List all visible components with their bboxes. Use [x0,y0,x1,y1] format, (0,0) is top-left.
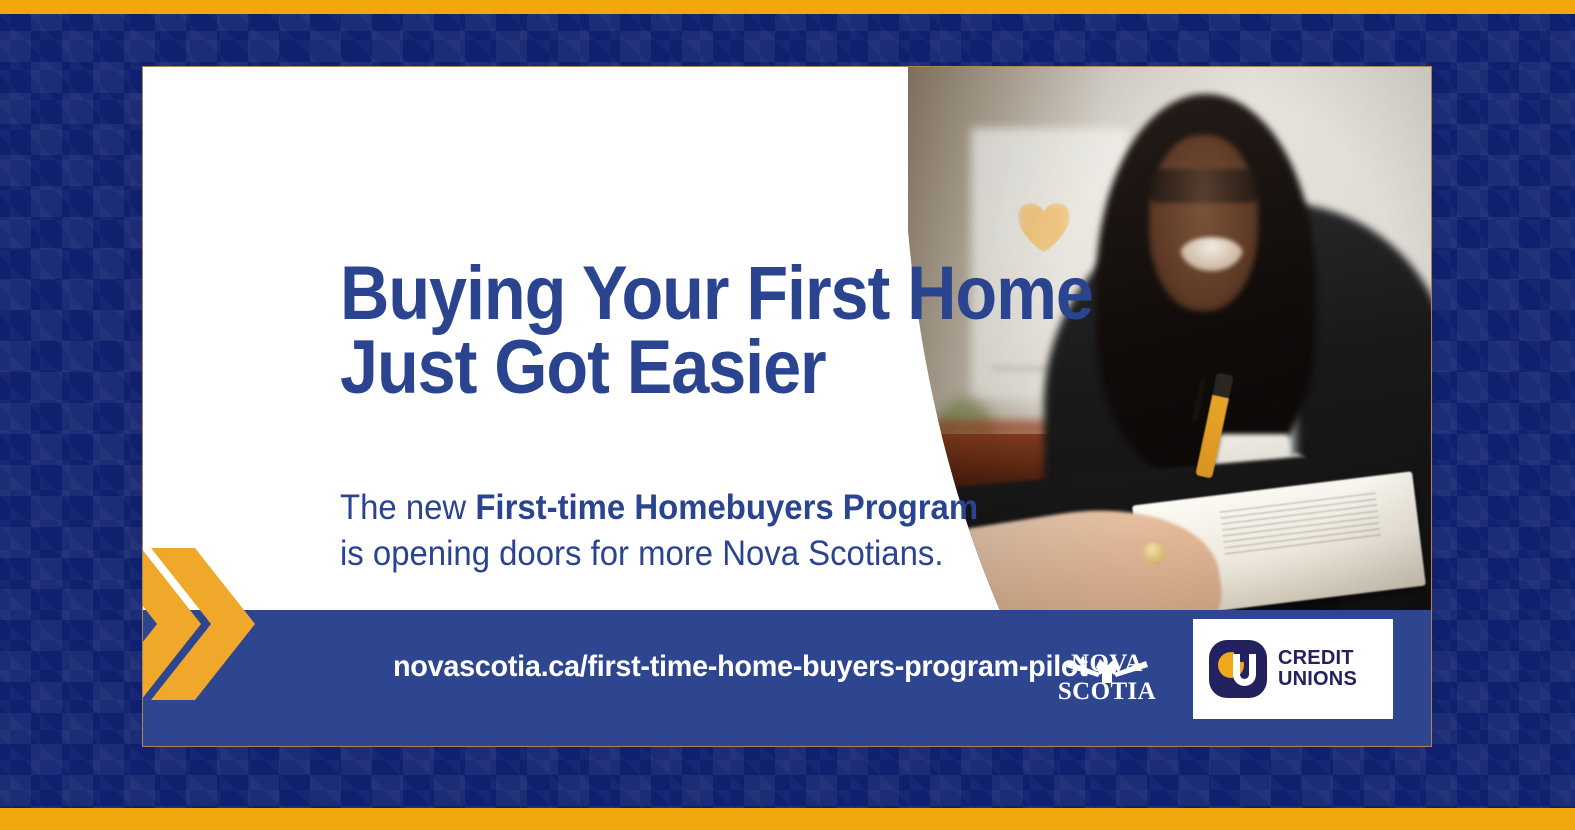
subheading: The new First-time Homebuyers Program is… [340,485,1054,576]
headline-line-2: Just Got Easier [340,331,1042,405]
nova-scotia-wordmark: NOVA SCOTIA [1028,650,1186,706]
page-title: Buying Your First Home Just Got Easier [340,257,1042,406]
cu-u-glyph [1233,654,1256,686]
subheading-line-1: The new First-time Homebuyers Program [340,485,1054,531]
content-card: Buying Your First Home Just Got Easier T… [143,67,1431,746]
top-orange-rule [0,0,1575,14]
credit-unions-wordmark: CREDIT UNIONS [1278,648,1357,691]
credit-unions-line-2: UNIONS [1278,669,1357,690]
nova-scotia-logo: NOVA SCOTIA [1028,642,1186,708]
double-chevron-right-icon [151,548,279,708]
credit-unions-line-1: CREDIT [1278,648,1357,669]
subheading-line-2: is opening doors for more Nova Scotians. [340,531,1054,577]
program-name: First-time Homebuyers Program [475,488,978,527]
headline-line-1: Buying Your First Home [340,257,1042,331]
bottom-orange-rule [0,808,1575,830]
program-url[interactable]: novascotia.ca/first-time-home-buyers-pro… [393,650,1088,684]
promotional-banner: Buying Your First Home Just Got Easier T… [0,0,1575,830]
subheading-prefix: The new [340,488,475,527]
credit-unions-cu-mark-icon [1209,640,1267,698]
credit-unions-logo: CREDIT UNIONS [1193,619,1393,719]
